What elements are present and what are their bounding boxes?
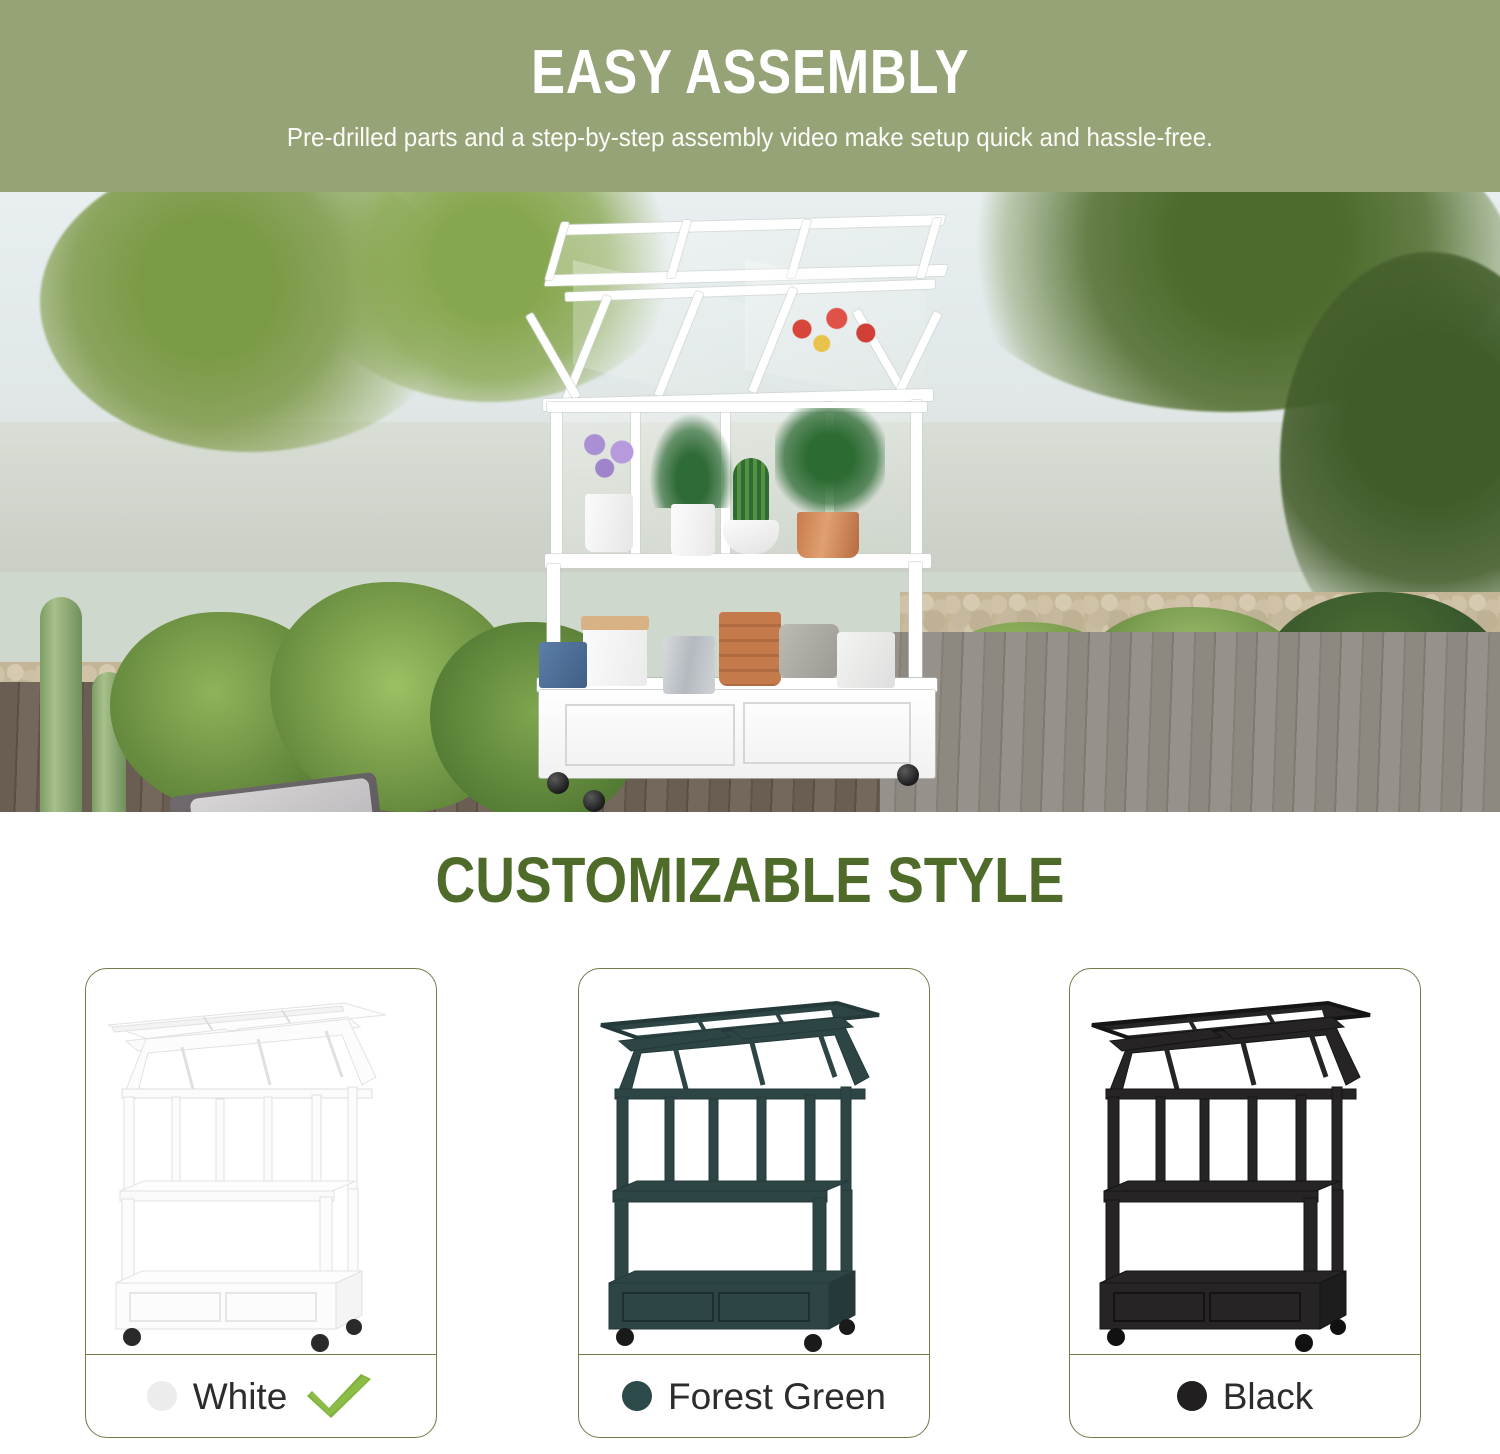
color-option-card-forest-green[interactable]: Forest Green: [578, 968, 930, 1438]
color-label-white: White: [193, 1378, 288, 1415]
caster-icon: [311, 1334, 329, 1352]
storage-bucket: [583, 624, 647, 686]
caster-icon: [804, 1334, 822, 1352]
caster-icon: [1295, 1334, 1313, 1352]
greenhouse-illustration-black: [1070, 977, 1421, 1359]
cactus-potted: [733, 458, 769, 524]
product-figure-forest-green: [579, 977, 930, 1359]
ficus-plant: [775, 408, 885, 518]
lifestyle-photo: [0, 192, 1500, 812]
trough-panel-right: [743, 702, 911, 764]
wood-deck: [860, 632, 1500, 812]
red-flowers-top: [773, 296, 889, 362]
caster-icon: [123, 1328, 141, 1346]
caster-icon: [839, 1319, 855, 1335]
orchid-flowers: [573, 426, 645, 488]
caster-icon: [1330, 1319, 1346, 1335]
greenhouse-illustration-forest-green: [579, 977, 930, 1359]
banner-title: EASY ASSEMBLY: [531, 42, 969, 104]
blue-crate: [539, 642, 587, 688]
easy-assembly-banner: EASY ASSEMBLY Pre-drilled parts and a st…: [0, 0, 1500, 192]
caster-rear-left: [583, 790, 605, 812]
color-label-black: Black: [1223, 1378, 1313, 1415]
cabinet-post-left: [551, 404, 562, 564]
color-options-group: White: [0, 968, 1500, 1438]
product-feature-page: EASY ASSEMBLY Pre-drilled parts and a st…: [0, 0, 1500, 1454]
customizable-style-heading: CUSTOMIZABLE STYLE: [105, 848, 1395, 912]
color-option-card-white[interactable]: White: [85, 968, 437, 1438]
color-label-row-forest-green[interactable]: Forest Green: [579, 1355, 929, 1437]
color-swatch-forest-green: [622, 1381, 652, 1411]
tool-bag: [837, 632, 895, 688]
banner-subtitle: Pre-drilled parts and a step-by-step ass…: [287, 124, 1213, 150]
product-figure-white: [86, 977, 437, 1359]
cactus-tall: [40, 597, 82, 812]
cabinet-post-right: [911, 400, 922, 562]
stacked-clay-pots: [719, 612, 781, 686]
caster-icon: [616, 1328, 634, 1346]
color-label-row-white[interactable]: White: [86, 1355, 436, 1437]
palm-pot: [671, 504, 715, 556]
bucket-lid: [581, 616, 649, 630]
greenhouse-cart-hero: [525, 212, 945, 812]
color-option-card-black[interactable]: Black: [1069, 968, 1421, 1438]
cabinet-bottom-rail: [545, 554, 931, 568]
caster-icon: [1107, 1328, 1125, 1346]
trough-panel-left: [565, 704, 735, 766]
caster-front-left: [547, 772, 569, 794]
color-swatch-white: [147, 1381, 177, 1411]
product-figure-black: [1070, 977, 1421, 1359]
caster-icon: [346, 1319, 362, 1335]
color-swatch-black: [1177, 1381, 1207, 1411]
orchid-pot: [585, 494, 633, 552]
ficus-terracotta-pot: [797, 512, 859, 558]
stone-planter: [779, 624, 839, 678]
palm-plant: [649, 412, 735, 508]
color-label-forest-green: Forest Green: [668, 1378, 886, 1415]
watering-can: [663, 636, 715, 694]
caster-front-right: [897, 764, 919, 786]
selected-check-icon: [303, 1370, 375, 1422]
color-label-row-black[interactable]: Black: [1070, 1355, 1420, 1437]
greenhouse-illustration-white: [86, 977, 437, 1359]
